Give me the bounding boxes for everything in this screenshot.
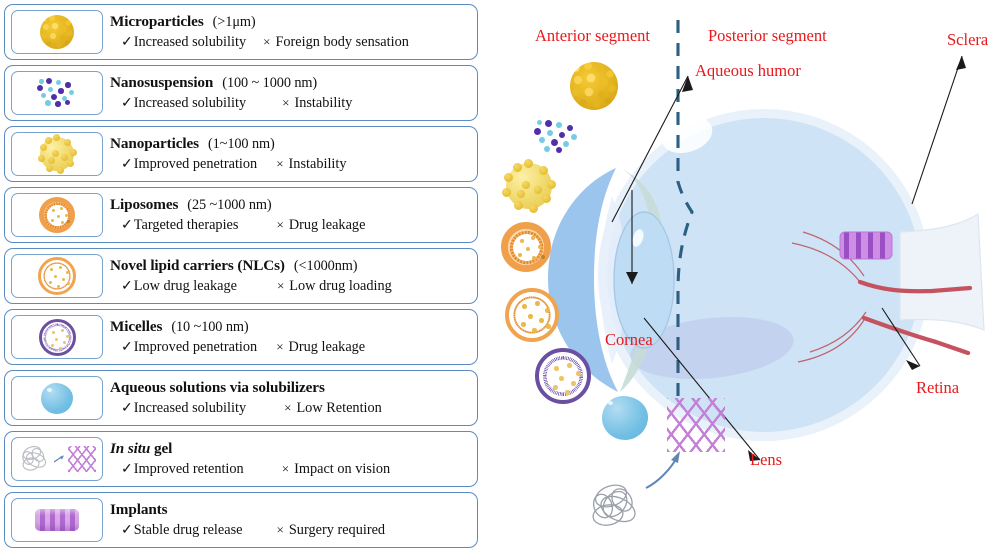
check-icon: ✓ [121,96,134,111]
implant-cylinder-icon [11,498,103,542]
dds-title: Novel lipid carriers (NLCs)(<1000nm) [110,258,477,274]
dds-pro: ✓Improved penetration [121,157,257,173]
label-aqueous-humor: Aqueous humor [695,61,801,81]
micelle-icon [11,315,103,359]
cross-icon: × [277,278,289,293]
dds-con: ×Low Retention [246,401,382,416]
dds-title: Aqueous solutions via solubilizers [110,380,477,396]
implant-in-eye-icon [840,232,892,259]
dds-title: Micelles(10 ~100 nm) [110,319,477,335]
check-icon: ✓ [121,218,134,233]
cross-icon: × [282,95,294,110]
eye-carrier-aqueous-droplet-icon [602,396,648,440]
polymer-coil-icon [19,444,51,474]
cross-icon: × [263,34,275,49]
eye-carrier-gel-network-icon [667,398,725,452]
dds-row-micelles[interactable]: Micelles(10 ~100 nm) ✓Improved penetrati… [4,309,478,365]
check-icon: ✓ [121,340,134,355]
gel-transition-arrow-icon [644,448,684,492]
aqueous-droplet-icon [11,376,103,420]
eye-anatomy-panel: Anterior segment Posterior segment Aqueo… [492,0,1000,556]
dds-title: Liposomes(25 ~1000 nm) [110,197,477,213]
dds-con: ×Foreign body sensation [246,35,409,50]
dds-pro: ✓Low drug leakage [121,279,237,295]
gel-network-icon [68,446,96,472]
dds-row-aqueous-solutions[interactable]: Aqueous solutions via solubilizers ✓Incr… [4,370,478,426]
dds-con: ×Impact on vision [244,462,390,477]
dds-row-implants[interactable]: Implants ✓Stable drug release ×Surgery r… [4,492,478,548]
dds-pro: ✓Improved retention [121,462,244,478]
eye-carrier-nlc-icon [505,288,559,342]
label-sclera: Sclera [947,30,988,50]
dds-title: Implants [110,502,477,518]
dds-con: ×Drug leakage [257,340,365,355]
dds-row-in-situ-gel[interactable]: In situ gel ✓Improved retention ×Impact … [4,431,478,487]
dds-row-nanoparticles[interactable]: Nanoparticles(1~100 nm) ✓Improved penetr… [4,126,478,182]
cross-icon: × [277,522,289,537]
cross-icon: × [276,156,288,171]
eye-carrier-liposome-icon [501,222,551,272]
dds-pro: ✓Increased solubility [121,401,246,417]
dds-row-nlcs[interactable]: Novel lipid carriers (NLCs)(<1000nm) ✓Lo… [4,248,478,304]
dds-attributes: ✓Increased solubility ×Foreign body sens… [110,35,477,51]
eye-carrier-nanoparticle-icon [506,163,552,209]
check-icon: ✓ [121,401,134,416]
eye-carrier-microparticle-icon [570,62,618,110]
dds-text: Microparticles(>1μm) ✓Increased solubili… [110,14,477,51]
check-icon: ✓ [121,523,134,538]
label-retina: Retina [916,378,959,398]
eye-carrier-micelle-icon [535,348,591,404]
nanoparticle-studded-sphere-icon [11,132,103,176]
check-icon: ✓ [121,157,134,172]
cross-icon: × [276,217,288,232]
dds-pro: ✓Improved penetration [121,340,257,356]
in-situ-gel-icon [11,437,103,481]
label-anterior-segment: Anterior segment [535,26,650,46]
dds-title: Nanosuspension(100 ~ 1000 nm) [110,75,477,91]
dds-title: Nanoparticles(1~100 nm) [110,136,477,152]
label-lens: Lens [750,450,782,470]
check-icon: ✓ [121,279,134,294]
liposome-bilayer-icon [11,193,103,237]
dds-row-liposomes[interactable]: Liposomes(25 ~1000 nm) ✓Targeted therapi… [4,187,478,243]
dds-title-italic: In situ [110,440,150,457]
dds-con: ×Low drug loading [237,279,392,294]
arrow-retina [906,360,920,370]
dds-con: ×Instability [257,157,346,172]
figure-root: Microparticles(>1μm) ✓Increased solubili… [0,0,1000,556]
dds-size: (>1μm) [204,14,256,30]
dds-con: ×Surgery required [243,523,386,538]
optic-nerve [900,214,984,330]
dds-pro: ✓Targeted therapies [121,218,238,234]
eye-carrier-polymer-coil-icon [587,480,645,537]
nanosuspension-dots-icon [11,71,103,115]
dds-row-microparticles[interactable]: Microparticles(>1μm) ✓Increased solubili… [4,4,478,60]
check-icon: ✓ [121,462,134,477]
delivery-systems-panel: Microparticles(>1μm) ✓Increased solubili… [0,0,492,556]
dds-pro: ✓Stable drug release [121,523,243,539]
cross-icon: × [284,400,296,415]
label-cornea: Cornea [605,330,653,350]
dds-title: Microparticles(>1μm) [110,14,477,30]
label-posterior-segment: Posterior segment [708,26,827,46]
cross-icon: × [282,461,294,476]
arrow-icon [54,454,65,464]
check-icon: ✓ [121,35,134,50]
dds-title: In situ gel [110,441,477,457]
lens-shape [614,212,674,348]
microparticle-sphere-icon [11,10,103,54]
nlc-lipid-carrier-icon [11,254,103,298]
dds-con: ×Drug leakage [238,218,365,233]
dds-row-nanosuspension[interactable]: Nanosuspension(100 ~ 1000 nm) ✓Increased… [4,65,478,121]
cross-icon: × [276,339,288,354]
dds-pro: ✓Increased solubility [121,96,246,112]
dds-con: ×Instability [246,96,352,111]
dds-pro: ✓Increased solubility [121,35,246,51]
eye-illustration [492,0,1000,556]
eye-carrier-nanosuspension-icon [529,118,585,156]
